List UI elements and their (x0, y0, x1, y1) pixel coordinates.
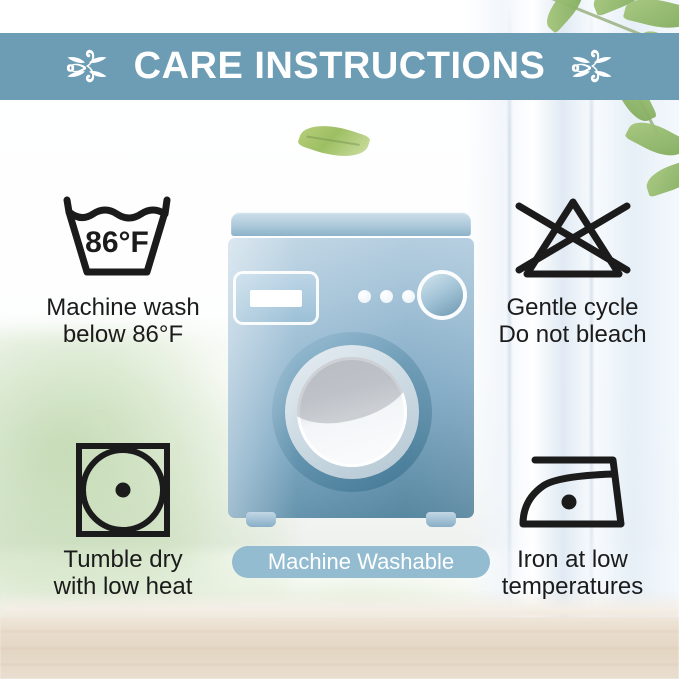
machine-door-glass (297, 357, 407, 467)
triangle-crossed-out-icon-wrap (503, 188, 643, 288)
fleur-de-lis-icon (58, 45, 116, 89)
control-indicator-dot (380, 290, 393, 303)
machine-door-outer-ring (272, 332, 432, 492)
status-badge: Machine Washable (232, 546, 490, 578)
wash-tub-icon-wrap: 86°F (57, 188, 189, 288)
care-instructions-infographic: CARE INSTRUCTIONS 86°F Machine wash belo… (0, 0, 679, 679)
iron-icon-wrap (509, 440, 637, 540)
control-indicator-dot (402, 290, 415, 303)
care-symbol-caption: Machine wash below 86°F (46, 294, 199, 349)
page-title: CARE INSTRUCTIONS (134, 45, 546, 88)
care-symbol-machine-wash: 86°F Machine wash below 86°F (18, 188, 228, 349)
machine-lid (231, 212, 471, 236)
care-symbol-tumble-dry: Tumble dry with low heat (18, 440, 228, 601)
care-symbol-caption: Iron at low temperatures (502, 546, 643, 601)
care-symbol-caption: Gentle cycle Do not bleach (498, 294, 646, 349)
care-symbol-iron: Iron at low temperatures (470, 440, 675, 601)
wash-temperature-value: 86°F (85, 226, 149, 259)
iron-icon (509, 444, 637, 536)
detergent-drawer (236, 274, 316, 322)
triangle-crossed-out-icon (503, 190, 643, 286)
wash-tub-icon: 86°F (57, 190, 189, 286)
control-indicator-dot (358, 290, 371, 303)
control-knob (421, 274, 463, 316)
machine-foot (426, 512, 456, 527)
tumble-dry-square-circle-icon (72, 439, 174, 541)
background-wood-table (0, 617, 679, 679)
status-badge-label: Machine Washable (268, 549, 454, 575)
plant-leaves-decoration (495, 0, 679, 206)
washing-machine-illustration (228, 212, 474, 530)
machine-body (228, 238, 474, 518)
care-symbol-caption: Tumble dry with low heat (54, 546, 193, 601)
machine-foot (246, 512, 276, 527)
fleur-de-lis-icon (563, 45, 621, 89)
care-symbol-do-not-bleach: Gentle cycle Do not bleach (470, 188, 675, 349)
tumble-dry-square-circle-icon-wrap (72, 440, 174, 540)
header-banner: CARE INSTRUCTIONS (0, 33, 679, 100)
machine-door-mid-ring (285, 345, 419, 479)
detergent-drawer-slot (250, 290, 302, 307)
